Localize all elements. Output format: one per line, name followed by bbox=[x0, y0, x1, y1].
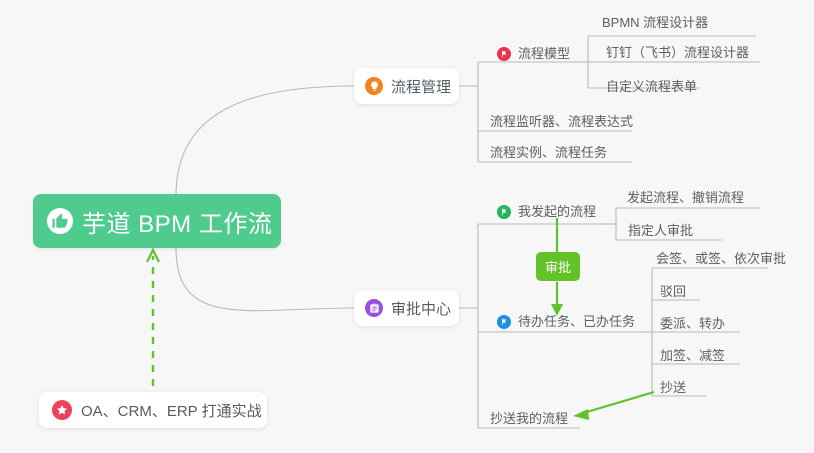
leaf-countersign[interactable]: 会签、或签、依次审批 bbox=[656, 250, 786, 267]
leaf-custom-form[interactable]: 自定义流程表单 bbox=[606, 78, 697, 95]
leaf-label: 待办任务、已办任务 bbox=[518, 313, 635, 330]
branch-label-approval-center: 审批中心 bbox=[391, 298, 451, 319]
leaf-carbon-copy[interactable]: 抄送 bbox=[660, 379, 686, 396]
leaf-label: 我发起的流程 bbox=[518, 203, 596, 220]
star-icon bbox=[52, 400, 72, 420]
leaf-delegate-transfer[interactable]: 委派、转办 bbox=[660, 315, 725, 332]
leaf-process-listener[interactable]: 流程监听器、流程表达式 bbox=[490, 113, 633, 130]
leaf-reject[interactable]: 驳回 bbox=[660, 283, 686, 300]
floating-node-integration[interactable]: OA、CRM、ERP 打通实战 bbox=[39, 392, 267, 428]
callout-approve[interactable]: 审批 bbox=[536, 252, 580, 281]
clipboard-icon bbox=[365, 299, 383, 317]
cc-link-arrow bbox=[573, 392, 654, 420]
floating-node-label: OA、CRM、ERP 打通实战 bbox=[81, 400, 262, 421]
leaf-process-instance[interactable]: 流程实例、流程任务 bbox=[490, 144, 607, 161]
leaf-start-cancel-process[interactable]: 发起流程、撤销流程 bbox=[627, 189, 744, 206]
leaf-cc-my-process[interactable]: 抄送我的流程 bbox=[490, 410, 568, 427]
leaf-dingtalk-designer[interactable]: 钉钉（飞书）流程设计器 bbox=[606, 44, 749, 61]
leaf-bpmn-designer[interactable]: BPMN 流程设计器 bbox=[602, 14, 708, 31]
lightbulb-icon bbox=[365, 77, 383, 95]
thumbs-up-icon bbox=[47, 208, 73, 234]
leaf-process-model[interactable]: 流程模型 bbox=[497, 45, 570, 62]
branch-node-approval-center[interactable]: 审批中心 bbox=[354, 290, 459, 326]
branch-node-process-management[interactable]: 流程管理 bbox=[354, 68, 459, 104]
mindmap-canvas: 芋道 BPM 工作流 流程管理 审批中心 流程模型 流程监听器、流程表达式 流程… bbox=[0, 0, 814, 453]
branch-label-process-management: 流程管理 bbox=[391, 76, 451, 97]
leaf-designated-approver[interactable]: 指定人审批 bbox=[628, 222, 693, 239]
flag-icon bbox=[497, 47, 511, 61]
integration-arrow bbox=[147, 250, 159, 386]
flag-icon bbox=[497, 205, 511, 219]
leaf-todo-done-tasks[interactable]: 待办任务、已办任务 bbox=[497, 313, 635, 330]
root-node[interactable]: 芋道 BPM 工作流 bbox=[33, 194, 281, 248]
flag-icon bbox=[497, 315, 511, 329]
root-label: 芋道 BPM 工作流 bbox=[82, 204, 272, 239]
leaf-label: 流程模型 bbox=[518, 45, 570, 62]
leaf-add-remove-sign[interactable]: 加签、减签 bbox=[660, 347, 725, 364]
leaf-my-initiated-process[interactable]: 我发起的流程 bbox=[497, 203, 596, 220]
